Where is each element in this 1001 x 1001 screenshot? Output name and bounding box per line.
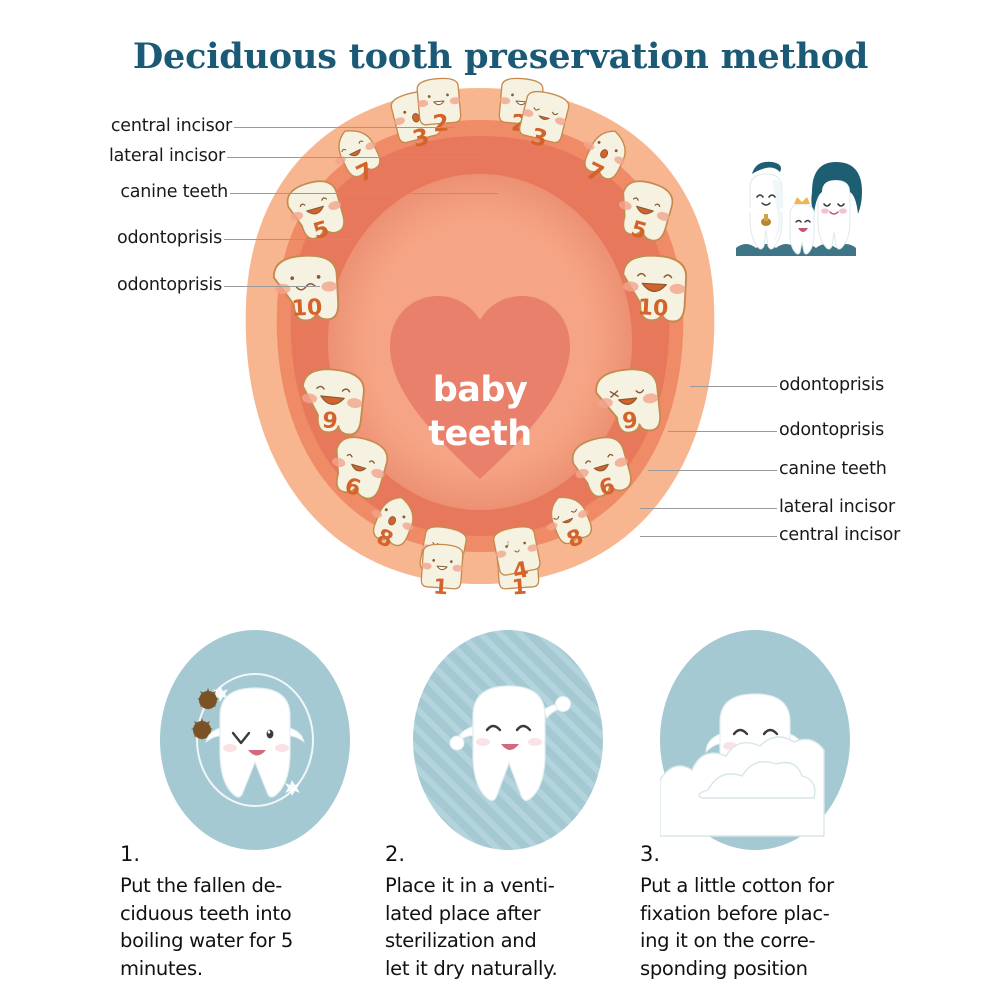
leader-line-right-0 xyxy=(690,386,777,387)
tooth-lower-9-0[interactable]: 9 xyxy=(290,362,373,442)
leader-line-left-1 xyxy=(227,157,480,158)
tooth-family-svg xyxy=(722,152,882,262)
label-central-incisor-right: central incisor xyxy=(779,525,900,545)
tooth-shape-svg xyxy=(409,63,469,143)
label-odontoprisis-left-2: odontoprisis xyxy=(0,275,222,295)
label-odontoprisis-right-1: odontoprisis xyxy=(779,375,884,395)
infographic-page: Deciduous tooth preservation method xyxy=(0,0,1001,1001)
tooth-upper-10-9[interactable]: 10 xyxy=(613,250,695,328)
baby-crown-icon xyxy=(794,197,810,204)
leader-line-right-3 xyxy=(640,508,777,509)
step-2-text: Place it in a venti- lated place after s… xyxy=(385,872,670,982)
step-3-number: 3. xyxy=(640,842,660,866)
leader-line-left-3 xyxy=(224,239,352,240)
dad-arm-left xyxy=(740,210,750,218)
tooth-with-germs-shield-icon xyxy=(160,630,350,850)
leader-line-right-2 xyxy=(648,470,777,471)
leader-line-right-1 xyxy=(668,431,777,432)
step-1-text: Put the fallen de- ciduous teeth into bo… xyxy=(120,872,405,982)
happy-tooth-waving-icon xyxy=(413,630,603,850)
tooth-upper-2-4[interactable]: 2 xyxy=(409,63,469,143)
tooth-shape-svg xyxy=(613,250,695,328)
step-2-illustration xyxy=(413,630,603,850)
tooth-lower-9-9[interactable]: 9 xyxy=(586,362,669,442)
mom-blush-left xyxy=(821,208,829,213)
step-1-illustration xyxy=(160,630,350,850)
tooth-shape-svg xyxy=(414,531,471,604)
leader-line-left-0 xyxy=(234,127,455,128)
label-odontoprisis-right-2: odontoprisis xyxy=(779,420,884,440)
leader-line-right-4 xyxy=(640,536,777,537)
leader-line-left-2 xyxy=(230,193,498,194)
mom-blush-right xyxy=(839,208,847,213)
label-canine-teeth-right: canine teeth xyxy=(779,459,887,479)
dad-hair-icon xyxy=(752,162,781,174)
label-lateral-incisor-left: lateral incisor xyxy=(0,146,225,166)
label-central-incisor-left: central incisor xyxy=(0,116,232,136)
tooth-shape-svg xyxy=(265,250,347,328)
mouth-svg xyxy=(240,84,720,594)
mom-tooth xyxy=(811,162,862,249)
step-1-number: 1. xyxy=(120,842,140,866)
baby-teeth-mouth-diagram: baby teeth 105732237510968411♪4869 xyxy=(240,84,720,594)
tooth-family-illustration xyxy=(722,152,882,262)
step-3-illustration xyxy=(660,630,850,850)
tooth-upper-10-0[interactable]: 10 xyxy=(265,250,347,328)
label-odontoprisis-left-1: odontoprisis xyxy=(0,228,222,248)
tooth-shape-svg xyxy=(290,362,373,442)
tooth-lower-1-4[interactable]: 1 xyxy=(414,531,471,604)
dad-tie-knot xyxy=(764,214,768,221)
tooth-on-cloud-icon xyxy=(660,630,850,850)
leader-line-left-4 xyxy=(224,286,320,287)
tooth-shape-svg xyxy=(586,362,669,442)
dad-tooth xyxy=(740,162,792,249)
step-3-text: Put a little cotton for fixation before … xyxy=(640,872,925,982)
step-2-number: 2. xyxy=(385,842,405,866)
label-canine-teeth-left: canine teeth xyxy=(0,182,228,202)
label-lateral-incisor-right: lateral incisor xyxy=(779,497,895,517)
